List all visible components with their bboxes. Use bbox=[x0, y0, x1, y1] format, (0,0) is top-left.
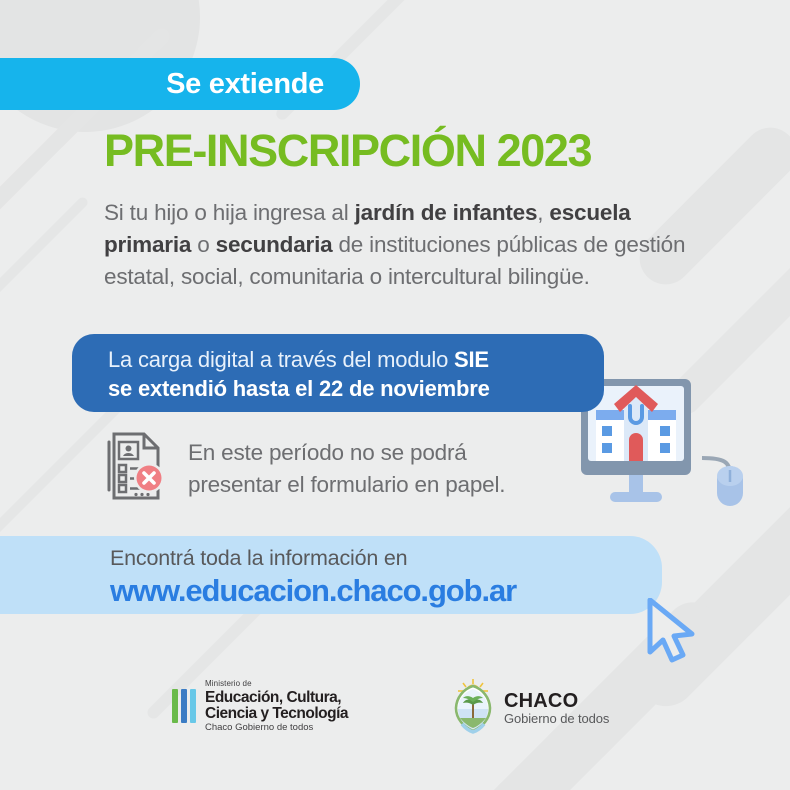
intro-part2: , bbox=[537, 200, 549, 225]
ministry-tagline: Chaco Gobierno de todos bbox=[205, 723, 348, 733]
ministry-line1: Educación, Cultura, bbox=[205, 690, 348, 706]
intro-part1: Si tu hijo o hija ingresa al bbox=[104, 200, 355, 225]
chaco-coat-of-arms-icon bbox=[452, 678, 494, 739]
intro-bold1: jardín de infantes bbox=[355, 200, 538, 225]
province-logo: CHACO Gobierno de todos bbox=[452, 678, 609, 739]
banner-label: Se extiende bbox=[166, 68, 324, 101]
website-url[interactable]: www.educacion.chaco.gob.ar bbox=[110, 572, 662, 609]
ministry-bars-icon bbox=[172, 689, 196, 723]
paper-note: En este período no se podrá presentar el… bbox=[104, 430, 505, 507]
province-name: CHACO bbox=[504, 691, 609, 712]
mouse-pointer-icon bbox=[646, 598, 710, 673]
intro-bold3: secundaria bbox=[216, 232, 333, 257]
ministry-line2: Ciencia y Tecnología bbox=[205, 706, 348, 722]
sie-notice-box: La carga digital a través del modulo SIE… bbox=[72, 334, 604, 412]
paper-note-text: En este período no se podrá presentar el… bbox=[188, 437, 505, 499]
top-banner: Se extiende bbox=[0, 58, 360, 110]
url-band: Encontrá toda la información en www.educ… bbox=[0, 536, 662, 614]
ministry-logo: Ministerio de Educación, Cultura, Cienci… bbox=[172, 680, 348, 733]
page-title: PRE-INSCRIPCIÓN 2023 bbox=[104, 128, 591, 173]
sie-line-1: La carga digital a través del modulo SIE bbox=[108, 345, 604, 374]
poster: Se extiende PRE-INSCRIPCIÓN 2023 Si tu h… bbox=[0, 0, 790, 790]
paper-note-line1: En este período no se podrá bbox=[188, 440, 467, 465]
sie-line-2: se extendió hasta el 22 de noviembre bbox=[108, 374, 604, 403]
province-tagline: Gobierno de todos bbox=[504, 712, 609, 726]
url-band-label: Encontrá toda la información en bbox=[110, 545, 662, 572]
paper-note-line2: presentar el formulario en papel. bbox=[188, 472, 505, 497]
intro-paragraph: Si tu hijo o hija ingresa al jardín de i… bbox=[104, 197, 704, 293]
province-text: CHACO Gobierno de todos bbox=[504, 691, 609, 726]
intro-part3: o bbox=[191, 232, 215, 257]
ministry-text: Ministerio de Educación, Cultura, Cienci… bbox=[205, 680, 348, 733]
sie-line1-normal: La carga digital a través del modulo bbox=[108, 347, 454, 372]
form-denied-icon bbox=[104, 430, 166, 507]
ministry-eyebrow: Ministerio de bbox=[205, 680, 348, 688]
footer: Ministerio de Educación, Cultura, Cienci… bbox=[0, 676, 790, 746]
sie-line1-bold: SIE bbox=[454, 347, 489, 372]
